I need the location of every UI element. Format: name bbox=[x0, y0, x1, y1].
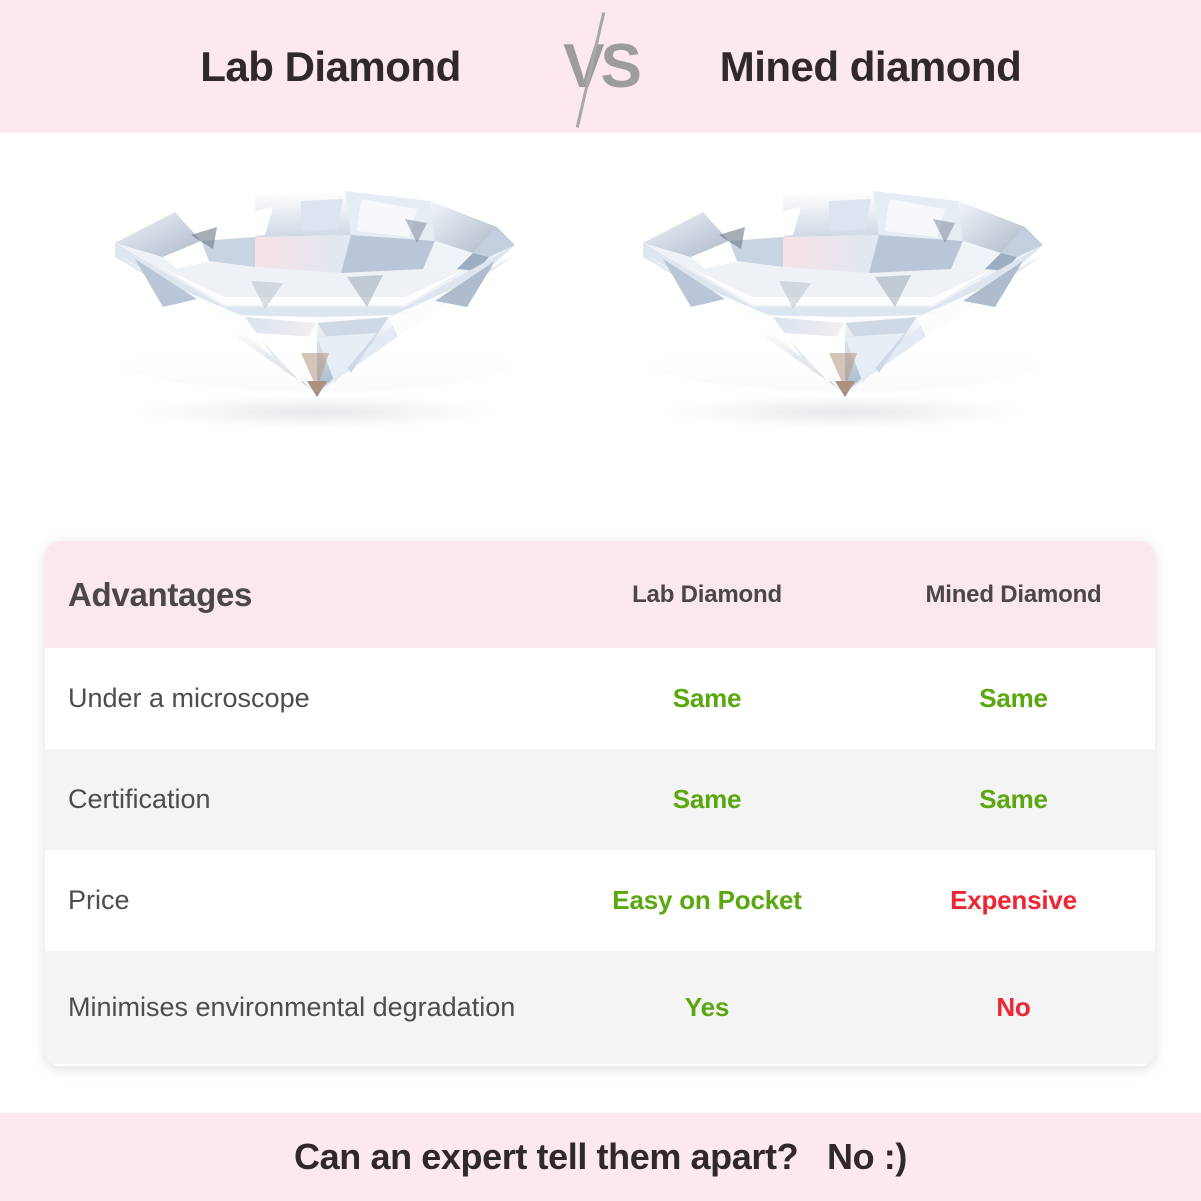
comparison-table: Advantages Lab Diamond Mined Diamond Und… bbox=[45, 541, 1155, 1066]
table-row: Under a microscope Same Same bbox=[45, 648, 1155, 749]
table-row: Certification Same Same bbox=[45, 749, 1155, 850]
header-title-mined-diamond: Mined diamond bbox=[661, 43, 1081, 91]
table-row: Price Easy on Pocket Expensive bbox=[45, 850, 1155, 951]
row-lab-value: Same bbox=[542, 784, 872, 815]
row-lab-value: Same bbox=[542, 683, 872, 714]
mined-diamond-reflection bbox=[633, 356, 1053, 409]
lab-diamond-slot bbox=[105, 157, 525, 487]
table-header-row: Advantages Lab Diamond Mined Diamond bbox=[45, 541, 1155, 648]
row-feature-label: Certification bbox=[45, 782, 542, 817]
page-footer: Can an expert tell them apart? No :) bbox=[0, 1113, 1201, 1201]
footer-question: Can an expert tell them apart? No :) bbox=[294, 1136, 907, 1178]
page-header: Lab Diamond VS Mined diamond bbox=[0, 0, 1201, 133]
row-feature-label: Under a microscope bbox=[45, 681, 542, 716]
versus-label: VS bbox=[563, 36, 638, 98]
header-title-lab-diamond: Lab Diamond bbox=[121, 43, 541, 91]
row-feature-label: Price bbox=[45, 883, 542, 918]
mined-diamond-slot bbox=[633, 157, 1053, 487]
versus-badge: VS bbox=[541, 7, 661, 127]
row-mined-value: No bbox=[872, 992, 1155, 1023]
diamond-comparison-stage bbox=[0, 133, 1201, 533]
row-mined-value: Expensive bbox=[872, 885, 1155, 916]
table-header-mined-diamond: Mined Diamond bbox=[872, 581, 1155, 609]
row-mined-value: Same bbox=[872, 784, 1155, 815]
table-header-advantages: Advantages bbox=[45, 576, 542, 614]
table-row: Minimises environmental degradation Yes … bbox=[45, 951, 1155, 1064]
row-lab-value: Easy on Pocket bbox=[542, 885, 872, 916]
table-header-lab-diamond: Lab Diamond bbox=[542, 581, 872, 609]
row-lab-value: Yes bbox=[542, 992, 872, 1023]
row-feature-label: Minimises environmental degradation bbox=[45, 990, 542, 1025]
lab-diamond-reflection bbox=[105, 356, 525, 409]
row-mined-value: Same bbox=[872, 683, 1155, 714]
